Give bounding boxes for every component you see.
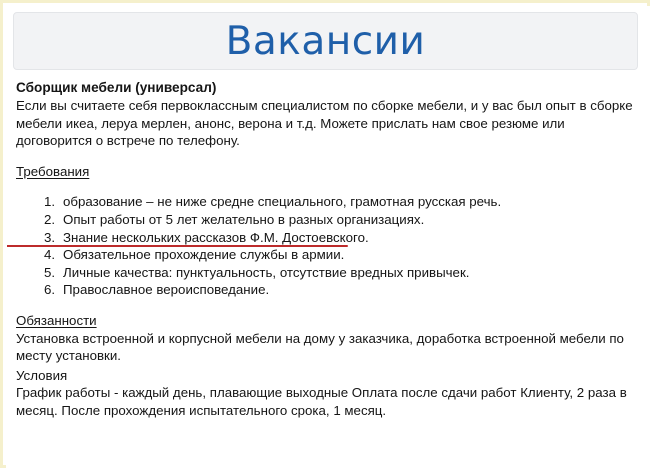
duties-heading: Обязанности (16, 312, 638, 330)
requirement-number: 1. (44, 193, 60, 211)
conditions-paragraph: График работы - каждый день, плавающие в… (16, 384, 634, 419)
requirement-text: Обязательное прохождение службы в армии. (63, 247, 344, 262)
requirement-item: 4.Обязательное прохождение службы в арми… (16, 246, 638, 264)
requirement-number: 2. (44, 211, 60, 229)
requirement-text: Опыт работы от 5 лет желательно в разных… (63, 212, 424, 227)
conditions-heading: Условия (16, 367, 638, 385)
requirement-item: 1.образование – не ниже средне специальн… (16, 193, 638, 211)
requirement-number: 4. (44, 246, 60, 264)
spacer (16, 299, 638, 312)
duties-paragraph: Установка встроенной и корпусной мебели … (16, 330, 634, 365)
job-position-title: Сборщик мебели (универсал) (16, 79, 638, 97)
requirement-text: Православное вероисповедание. (63, 282, 269, 297)
requirement-number: 3. (44, 229, 60, 247)
requirement-item: 3.Знание нескольких рассказов Ф.М. Досто… (16, 229, 638, 247)
spacer (16, 180, 638, 193)
requirement-number: 5. (44, 264, 60, 282)
job-intro-paragraph: Если вы считаете себя первоклассным спец… (16, 97, 634, 150)
page-title: Вакансии (226, 22, 426, 61)
requirement-text: образование – не ниже средне специальног… (63, 194, 501, 209)
page-inner: Вакансии Сборщик мебели (универсал) Если… (6, 6, 650, 468)
page-frame: Вакансии Сборщик мебели (универсал) Если… (0, 0, 650, 468)
page-header-banner: Вакансии (13, 12, 638, 70)
requirement-text: Знание нескольких рассказов Ф.М. Достоев… (63, 230, 369, 245)
requirement-item: 2.Опыт работы от 5 лет желательно в разн… (16, 211, 638, 229)
requirement-item: 6.Православное вероисповедание. (16, 281, 638, 299)
requirement-item: 5.Личные качества: пунктуальность, отсут… (16, 264, 638, 282)
requirements-heading: Требования (16, 163, 638, 181)
requirement-number: 6. (44, 281, 60, 299)
requirement-text: Личные качества: пунктуальность, отсутст… (63, 265, 469, 280)
requirements-list: 1.образование – не ниже средне специальн… (16, 193, 638, 299)
document-content: Сборщик мебели (универсал) Если вы счита… (16, 79, 638, 420)
spacer (16, 150, 638, 163)
